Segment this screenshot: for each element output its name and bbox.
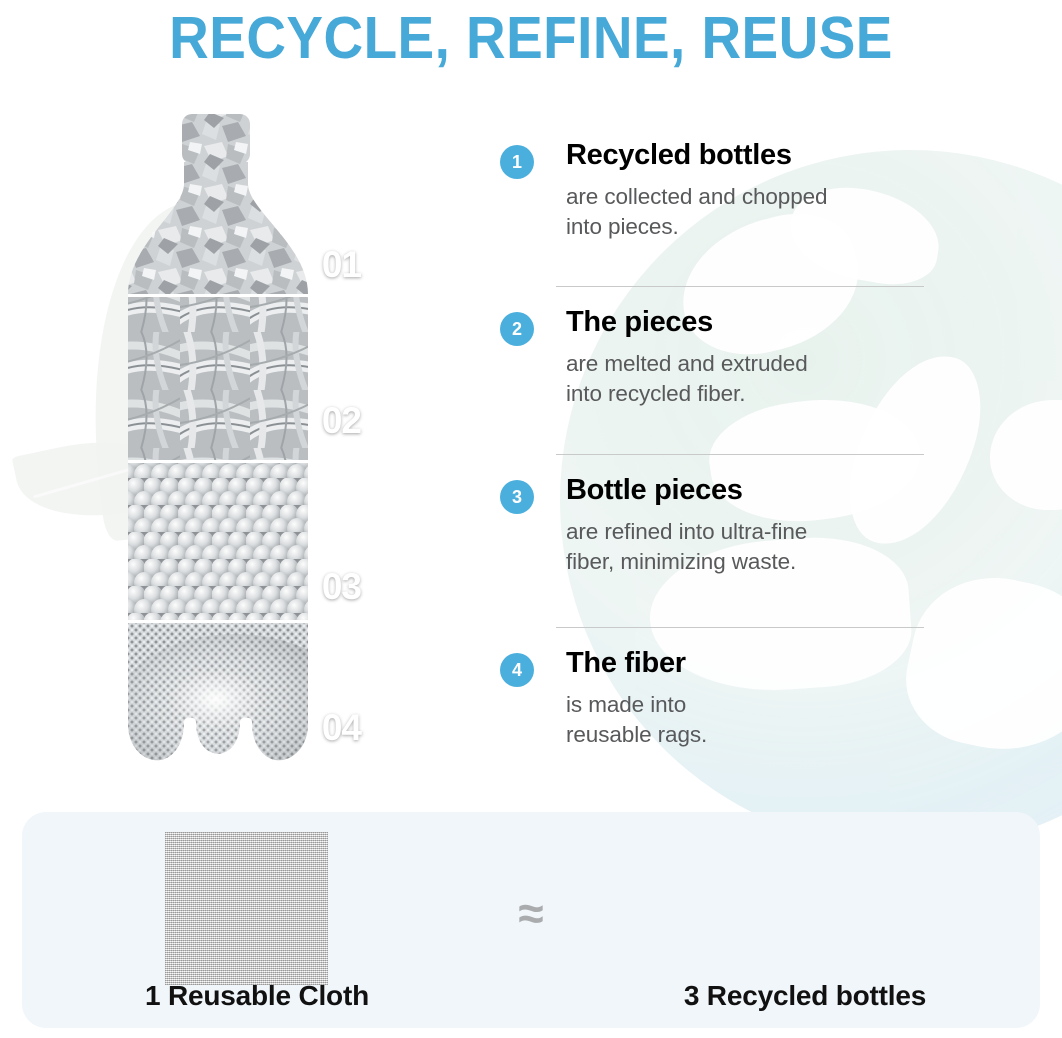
step-item-4: 4 The fiber is made into reusable rags. bbox=[498, 646, 938, 786]
step-body-line: are refined into ultra-fine bbox=[566, 517, 938, 547]
bottle-silhouette-svg bbox=[110, 100, 395, 800]
bottle-segment-label-02: 02 bbox=[322, 400, 361, 442]
step-divider-3 bbox=[556, 627, 924, 628]
bottle-segment-label-04: 04 bbox=[322, 707, 361, 749]
step-body-4: is made into reusable rags. bbox=[566, 690, 938, 750]
comparison-right: 3 Recycled bottles bbox=[570, 812, 1040, 1028]
comparison-left: 1 Reusable Cloth bbox=[22, 812, 492, 1028]
approximately-equal-icon: ≈ bbox=[492, 890, 570, 936]
step-title-2: The pieces bbox=[566, 305, 938, 339]
bottle-segment-label-01: 01 bbox=[322, 244, 361, 286]
step-body-2: are melted and extruded into recycled fi… bbox=[566, 349, 938, 409]
step-body-1: are collected and chopped into pieces. bbox=[566, 182, 938, 242]
step-title-1: Recycled bottles bbox=[566, 138, 938, 172]
step-number-badge-3: 3 bbox=[500, 480, 534, 514]
steps-list: 1 Recycled bottles are collected and cho… bbox=[498, 138, 938, 786]
step-item-2: 2 The pieces are melted and extruded int… bbox=[498, 305, 938, 473]
step-number-badge-2: 2 bbox=[500, 312, 534, 346]
step-body-line: are collected and chopped bbox=[566, 182, 938, 212]
step-body-line: fiber, minimizing waste. bbox=[566, 547, 938, 577]
segment-04-swirl bbox=[115, 634, 355, 790]
reusable-cloth-swatch bbox=[165, 832, 328, 985]
step-divider-2 bbox=[556, 454, 924, 455]
step-item-3: 3 Bottle pieces are refined into ultra-f… bbox=[498, 473, 938, 646]
step-number-badge-1: 1 bbox=[500, 145, 534, 179]
step-title-3: Bottle pieces bbox=[566, 473, 938, 507]
step-divider-1 bbox=[556, 286, 924, 287]
page-title: RECYCLE, REFINE, REUSE bbox=[37, 6, 1025, 70]
step-title-4: The fiber bbox=[566, 646, 938, 680]
globe-continent-shape bbox=[990, 400, 1062, 510]
step-body-line: into recycled fiber. bbox=[566, 379, 938, 409]
bottle-segment-label-03: 03 bbox=[322, 566, 361, 608]
bottle-diagram: 01 02 03 04 bbox=[110, 100, 395, 800]
step-number-badge-4: 4 bbox=[500, 653, 534, 687]
comparison-right-label: 3 Recycled bottles bbox=[570, 980, 1040, 1012]
step-body-3: are refined into ultra-fine fiber, minim… bbox=[566, 517, 938, 577]
comparison-left-label: 1 Reusable Cloth bbox=[22, 980, 492, 1012]
step-body-line: is made into bbox=[566, 690, 938, 720]
step-body-line: into pieces. bbox=[566, 212, 938, 242]
step-body-line: are melted and extruded bbox=[566, 349, 938, 379]
comparison-panel: 1 Reusable Cloth ≈ bbox=[22, 812, 1040, 1028]
bottle-texture-segments bbox=[110, 100, 395, 800]
step-item-1: 1 Recycled bottles are collected and cho… bbox=[498, 138, 938, 305]
step-body-line: reusable rags. bbox=[566, 720, 938, 750]
